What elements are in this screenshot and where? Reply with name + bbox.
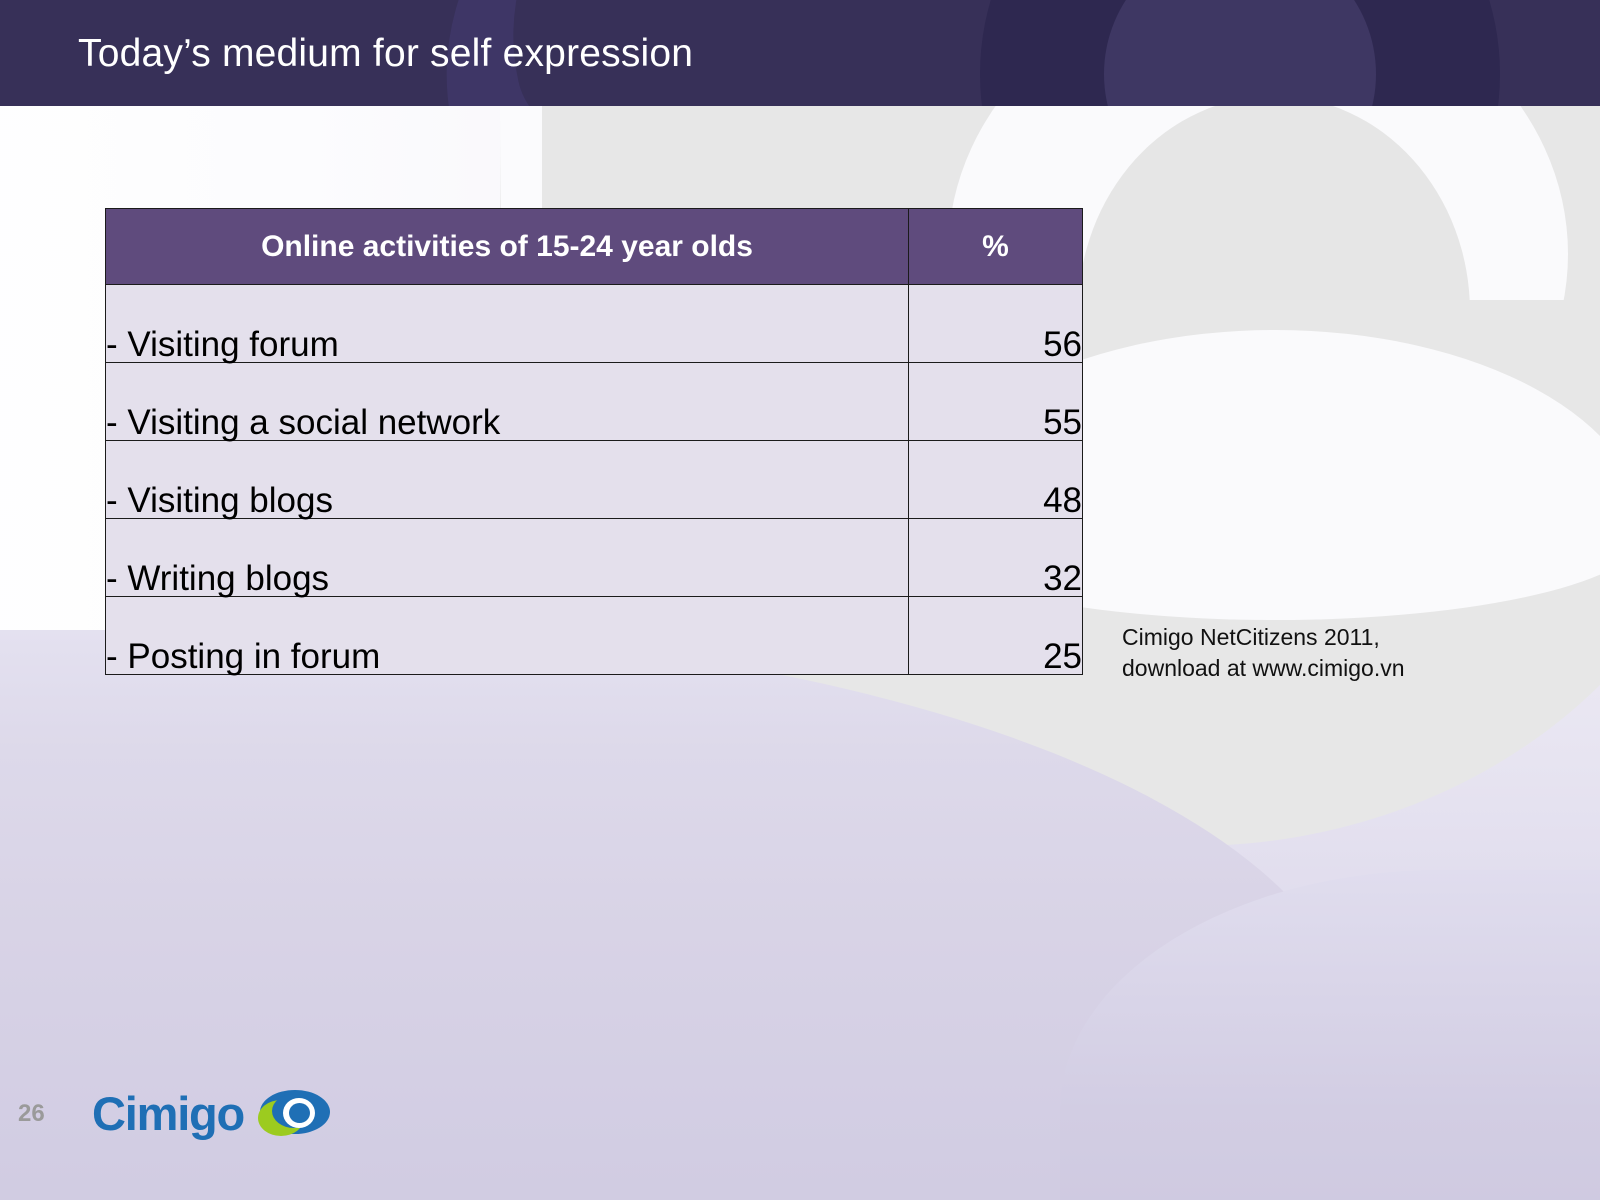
background-eye-inner-circle [1078,96,1470,528]
cimigo-eye-logo-icon [258,1088,330,1138]
presentation-slide: Today’s medium for self expression Onlin… [0,0,1600,1200]
activity-label: - Visiting blogs [106,441,909,519]
activity-percent: 48 [909,441,1083,519]
table-header-row: Online activities of 15-24 year olds % [106,209,1083,285]
activity-label: - Posting in forum [106,597,909,675]
table-row: - Visiting forum 56 [106,285,1083,363]
page-title: Today’s medium for self expression [78,32,693,76]
lower-right-lavender-wash [1060,870,1600,1200]
cimigo-logo: Cimigo [92,1088,330,1138]
activity-label: - Writing blogs [106,519,909,597]
table-row: - Visiting blogs 48 [106,441,1083,519]
activity-percent: 25 [909,597,1083,675]
source-note-line-1: Cimigo NetCitizens 2011, [1122,622,1502,653]
activity-label: - Visiting forum [106,285,909,363]
source-note-line-2: download at www.cimigo.vn [1122,653,1502,684]
slide-number: 26 [18,1100,45,1128]
activity-percent: 55 [909,363,1083,441]
online-activities-table: Online activities of 15-24 year olds % -… [105,208,1083,675]
table-row: - Posting in forum 25 [106,597,1083,675]
activity-label: - Visiting a social network [106,363,909,441]
activity-percent: 32 [909,519,1083,597]
column-header-activity: Online activities of 15-24 year olds [106,209,909,285]
activity-percent: 56 [909,285,1083,363]
cimigo-wordmark: Cimigo [92,1090,244,1137]
source-note: Cimigo NetCitizens 2011, download at www… [1122,622,1502,684]
table-row: - Writing blogs 32 [106,519,1083,597]
logo-pupil [289,1103,310,1123]
table-row: - Visiting a social network 55 [106,363,1083,441]
table-header: Online activities of 15-24 year olds % [106,209,1083,285]
column-header-percent: % [909,209,1083,285]
table-body: - Visiting forum 56 - Visiting a social … [106,285,1083,675]
header-ring-inner [1104,0,1376,106]
